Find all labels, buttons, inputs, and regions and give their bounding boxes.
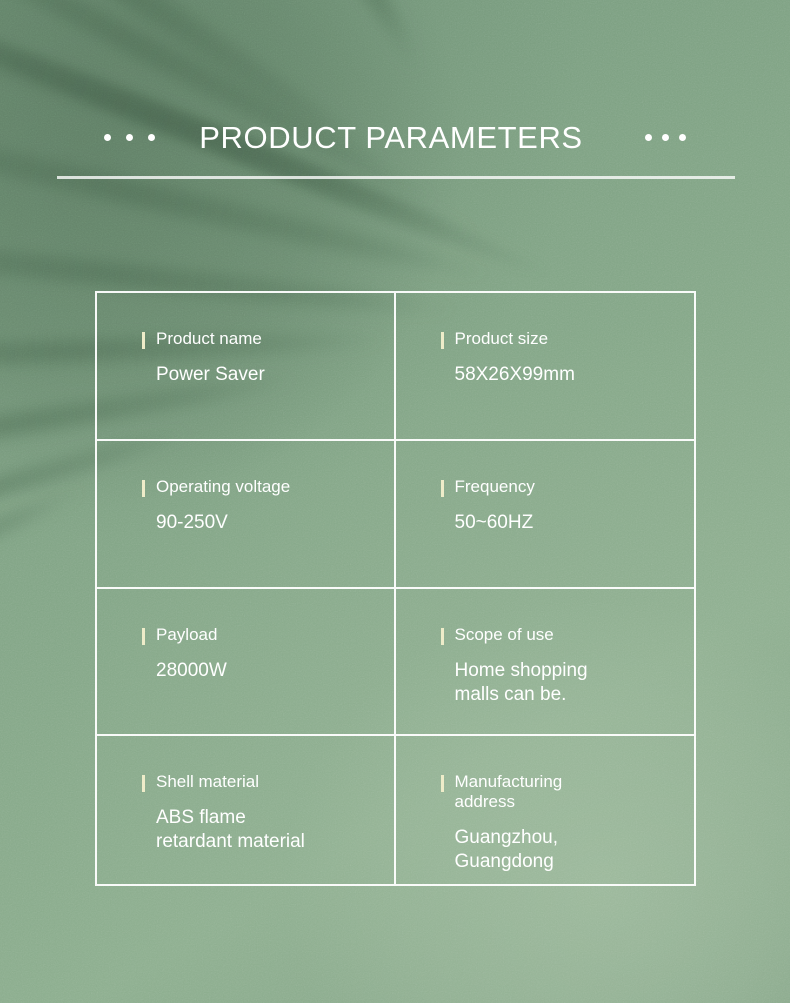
- accent-tick-icon: [142, 775, 145, 792]
- param-label-row: Manufacturing address: [441, 772, 695, 812]
- param-cell: Operating voltage 90-250V: [97, 441, 396, 589]
- param-value: Home shopping malls can be.: [455, 659, 695, 707]
- param-label: Frequency: [455, 477, 535, 497]
- param-label: Shell material: [156, 772, 259, 792]
- param-label: Operating voltage: [156, 477, 290, 497]
- accent-tick-icon: [441, 775, 444, 792]
- header-divider: [57, 176, 735, 179]
- accent-tick-icon: [441, 628, 444, 645]
- param-value: 28000W: [156, 659, 394, 683]
- accent-tick-icon: [441, 332, 444, 349]
- param-cell: Product name Power Saver: [97, 293, 396, 441]
- param-label: Product name: [156, 329, 262, 349]
- dot-icon: [104, 134, 111, 141]
- param-label-row: Product size: [441, 329, 695, 349]
- dot-icon: [679, 134, 686, 141]
- param-value: 58X26X99mm: [455, 363, 695, 387]
- param-label-row: Frequency: [441, 477, 695, 497]
- accent-tick-icon: [441, 480, 444, 497]
- param-value: Power Saver: [156, 363, 394, 387]
- param-label-row: Payload: [142, 625, 394, 645]
- dot-icon: [148, 134, 155, 141]
- page-title: PRODUCT PARAMETERS: [199, 122, 582, 153]
- param-label: Product size: [455, 329, 549, 349]
- param-cell: Product size 58X26X99mm: [396, 293, 695, 441]
- accent-tick-icon: [142, 332, 145, 349]
- accent-tick-icon: [142, 628, 145, 645]
- param-cell: Shell material ABS flame retardant mater…: [97, 736, 396, 884]
- header-title-row: PRODUCT PARAMETERS: [0, 113, 790, 161]
- decorative-dots-left: [104, 134, 155, 141]
- param-value: Guangzhou, Guangdong: [455, 826, 695, 874]
- dot-icon: [645, 134, 652, 141]
- dot-icon: [662, 134, 669, 141]
- param-label-row: Operating voltage: [142, 477, 394, 497]
- dot-icon: [126, 134, 133, 141]
- param-value: 90-250V: [156, 511, 394, 535]
- parameter-table: Product name Power Saver Product size 58…: [95, 291, 696, 886]
- decorative-dots-right: [645, 134, 686, 141]
- param-cell: Scope of use Home shopping malls can be.: [396, 589, 695, 737]
- param-label: Manufacturing address: [455, 772, 563, 812]
- param-label: Scope of use: [455, 625, 554, 645]
- param-label-row: Product name: [142, 329, 394, 349]
- param-label-row: Shell material: [142, 772, 394, 792]
- param-cell: Frequency 50~60HZ: [396, 441, 695, 589]
- param-label: Payload: [156, 625, 217, 645]
- param-cell: Manufacturing address Guangzhou, Guangdo…: [396, 736, 695, 884]
- param-label-row: Scope of use: [441, 625, 695, 645]
- param-cell: Payload 28000W: [97, 589, 396, 737]
- param-value: ABS flame retardant material: [156, 806, 394, 854]
- accent-tick-icon: [142, 480, 145, 497]
- param-value: 50~60HZ: [455, 511, 695, 535]
